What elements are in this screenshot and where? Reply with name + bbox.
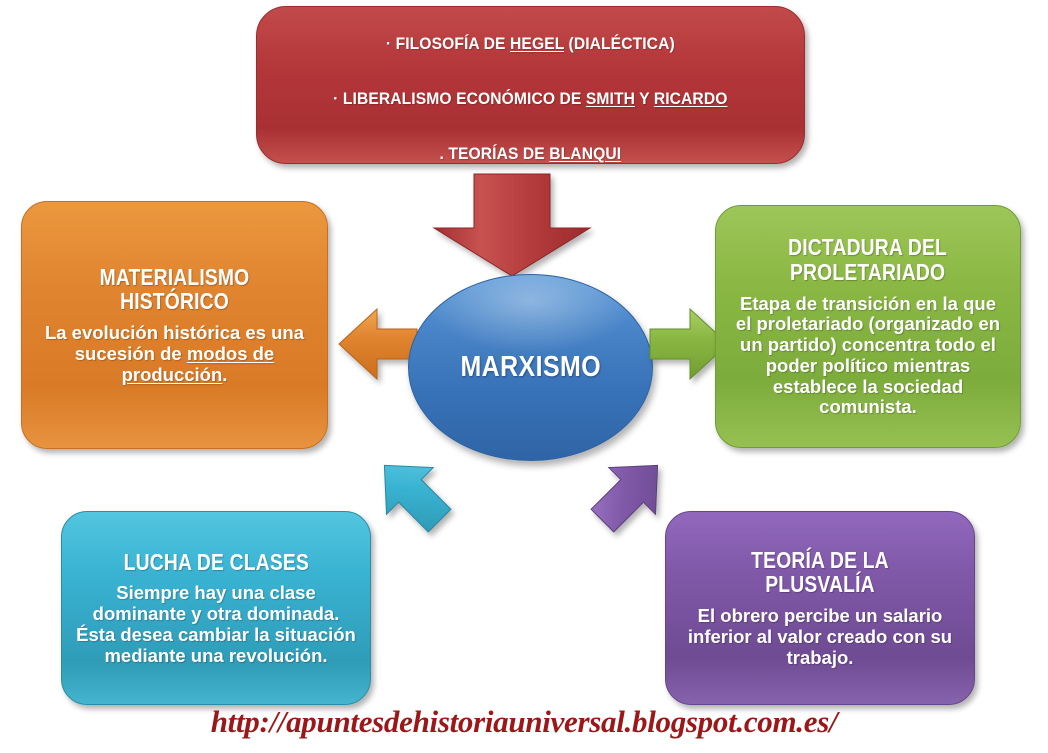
center-node-label: MARXISMO (460, 351, 601, 384)
branch-box-teoria-de-la-plusvalia: TEORÍA DE LA PLUSVALÍA El obrero percibe… (665, 511, 975, 705)
term-ricardo: RICARDO (654, 89, 728, 108)
term-hegel: HEGEL (510, 34, 564, 53)
branch-box-dictadura-del-proletariado: DICTADURA DEL PROLETARIADO Etapa de tran… (715, 205, 1021, 448)
term-modos-de-produccion: modos de producción (122, 343, 275, 385)
sources-line-1: · FILOSOFÍA DE HEGEL (DIALÉCTICA) (386, 34, 675, 53)
sources-box: · FILOSOFÍA DE HEGEL (DIALÉCTICA) · LIBE… (256, 6, 805, 164)
arrow-left-icon (337, 303, 419, 385)
branch-title-materialismo-historico: MATERIALISMO HISTÓRICO (58, 265, 291, 315)
sources-line-2: · LIBERALISMO ECONÓMICO DE SMITH Y RICAR… (333, 89, 727, 108)
source-url[interactable]: http://apuntesdehistoriauniversal.blogsp… (0, 704, 1048, 740)
center-node-marxismo: MARXISMO (408, 274, 653, 461)
branch-body-dictadura-del-proletariado: Etapa de transición en la que el proleta… (730, 294, 1006, 418)
branch-box-materialismo-historico: MATERIALISMO HISTÓRICO La evolución hist… (21, 201, 328, 449)
branch-body-teoria-de-la-plusvalia: El obrero percibe un salario inferior al… (680, 606, 960, 668)
arrow-down-left-icon (365, 446, 459, 540)
term-blanqui: BLANQUI (549, 144, 621, 163)
arrow-down-right-icon (583, 446, 677, 540)
sources-text: · FILOSOFÍA DE HEGEL (DIALÉCTICA) · LIBE… (333, 6, 727, 164)
branch-title-dictadura-del-proletariado: DICTADURA DEL PROLETARIADO (789, 235, 948, 285)
branch-body-lucha-de-clases: Siempre hay una clase dominante y otra d… (76, 583, 356, 666)
sources-line-3: . TEORÍAS DE BLANQUI (440, 144, 622, 163)
branch-body-materialismo-historico: La evolución histórica es una sucesión d… (36, 323, 313, 385)
branch-title-teoria-de-la-plusvalia: TEORÍA DE LA PLUSVALÍA (702, 548, 937, 598)
diagram-canvas: · FILOSOFÍA DE HEGEL (DIALÉCTICA) · LIBE… (0, 0, 1048, 753)
arrow-down-icon (432, 172, 592, 278)
branch-title-lucha-de-clases: LUCHA DE CLASES (123, 550, 308, 575)
term-smith: SMITH (586, 89, 635, 108)
branch-box-lucha-de-clases: LUCHA DE CLASES Siempre hay una clase do… (61, 511, 371, 705)
